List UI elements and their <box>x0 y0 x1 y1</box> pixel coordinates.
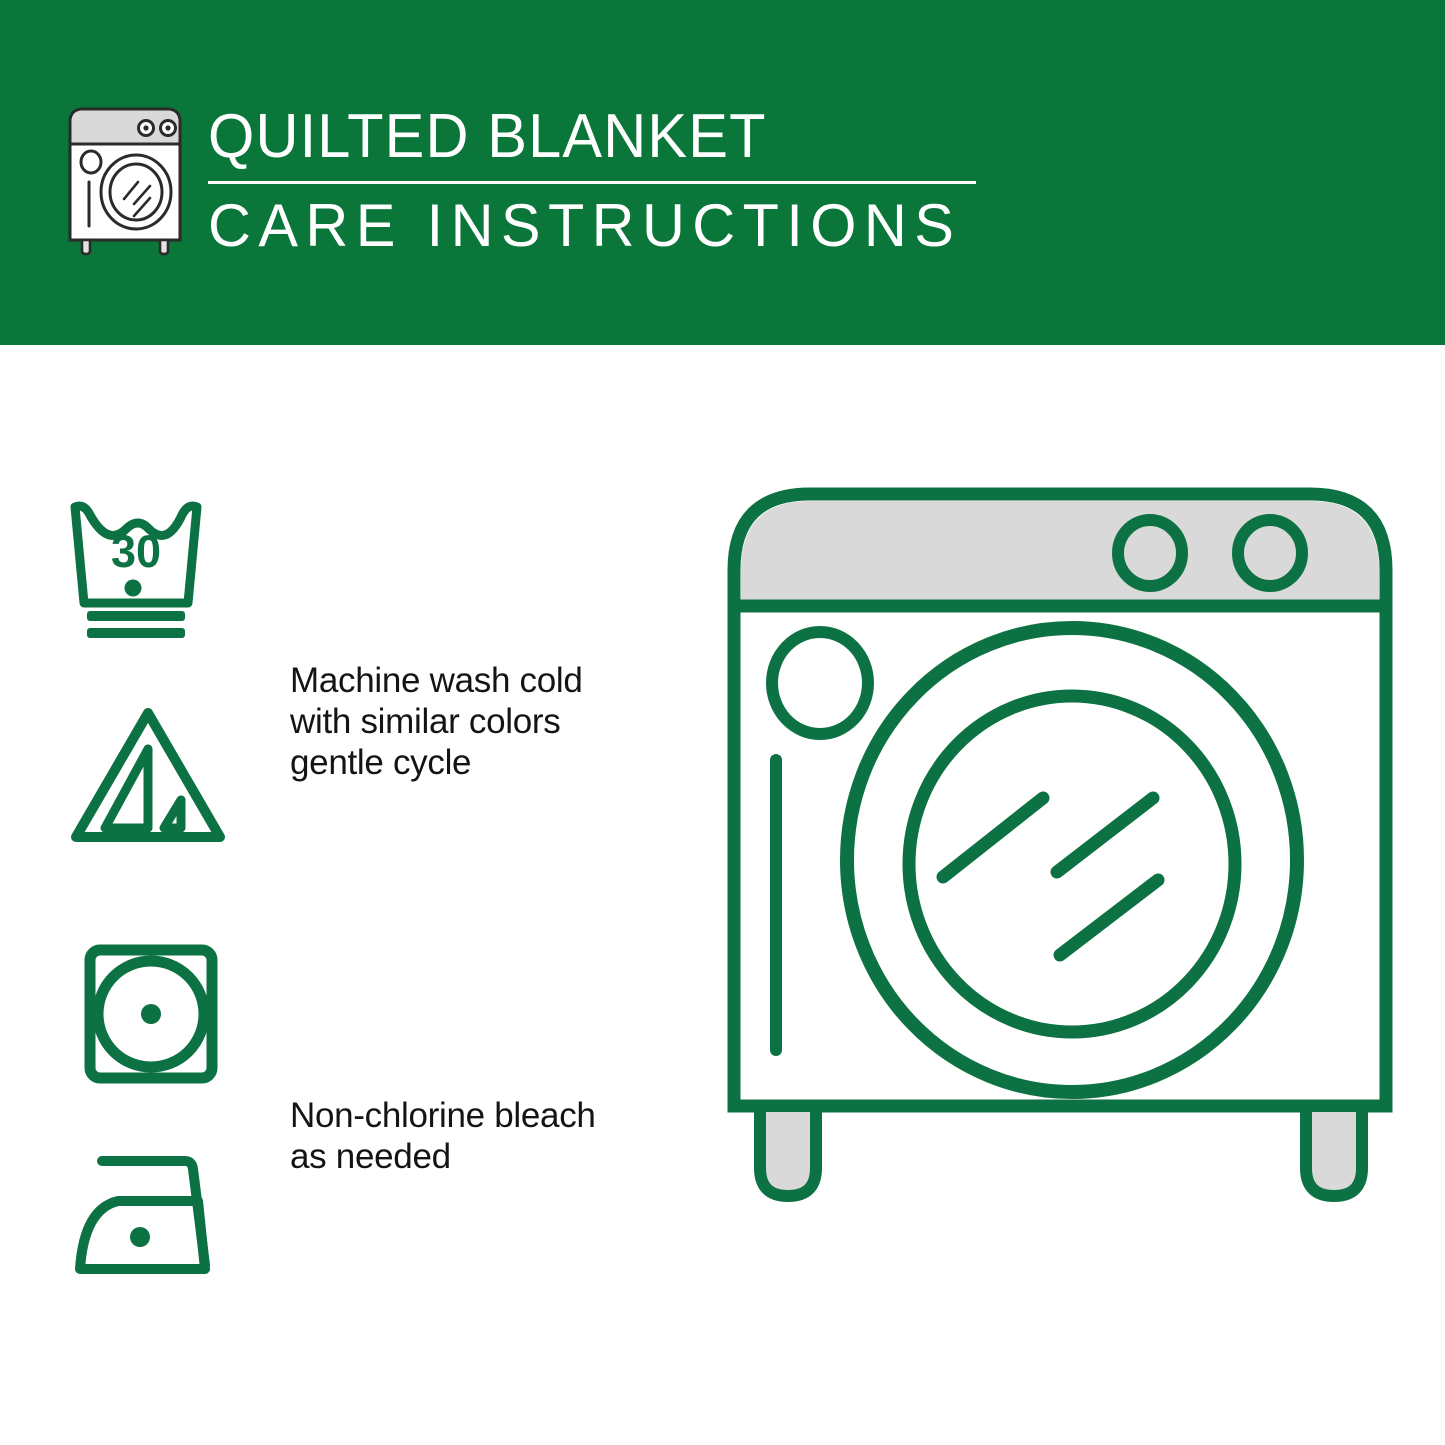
care-label-bleach: Non-chlorine bleach as needed <box>290 1095 596 1177</box>
title-divider <box>208 181 976 184</box>
care-label-wash: Machine wash cold with similar colors ge… <box>290 660 583 783</box>
header-text-block: QUILTED BLANKET CARE INSTRUCTIONS <box>208 100 983 262</box>
header-band: QUILTED BLANKET CARE INSTRUCTIONS <box>0 0 1445 345</box>
page-title: QUILTED BLANKET <box>208 100 952 174</box>
non-chlorine-bleach-triangle-icon <box>70 705 235 855</box>
care-instruction-list: 30 Machine wash cold with similar colors… <box>0 345 690 1445</box>
iron-low-heat-icon <box>70 1145 235 1295</box>
washing-machine-illustration <box>700 460 1420 1380</box>
care-instructions-poster: QUILTED BLANKET CARE INSTRUCTIONS 30 <box>0 0 1445 1445</box>
svg-text:30: 30 <box>111 526 161 577</box>
tumble-dry-low-heat-icon <box>70 940 235 1090</box>
wash-tub-30-degrees-gentle-icon: 30 <box>70 495 235 645</box>
washing-machine-icon <box>64 104 186 254</box>
page-subtitle: CARE INSTRUCTIONS <box>208 190 975 262</box>
